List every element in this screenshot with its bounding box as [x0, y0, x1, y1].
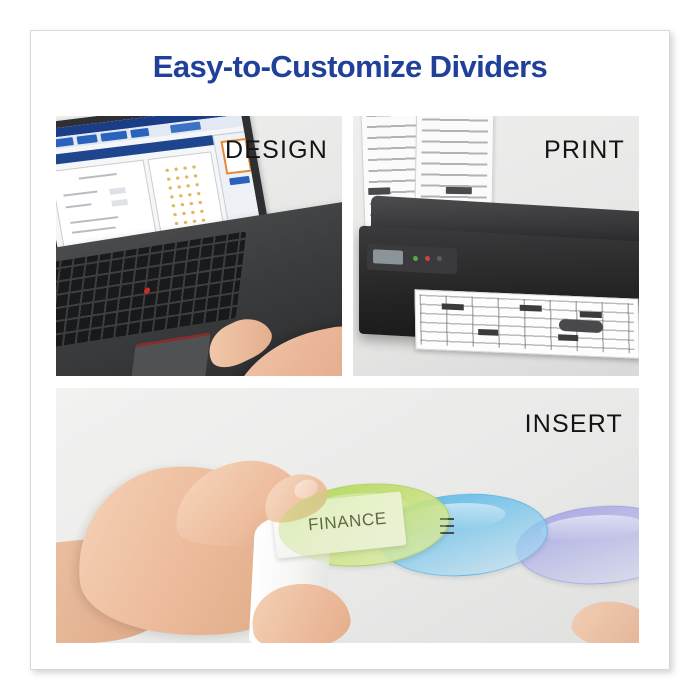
panel-label-design: DESIGN: [225, 136, 328, 165]
printer-menu-button[interactable]: [437, 256, 442, 261]
divider-dot-pattern: [162, 162, 211, 232]
laptop-touchpad[interactable]: [130, 332, 211, 376]
panel-label-insert: INSERT: [525, 410, 623, 439]
product-feature-image: Easy-to-Customize Dividers: [0, 0, 700, 700]
printed-label-sheet: [414, 289, 639, 358]
printer-tray-handle[interactable]: [559, 319, 603, 333]
panel-print: PRINT: [353, 116, 639, 376]
rail-chip: [229, 176, 250, 185]
panel-design: DESIGN: [56, 116, 342, 376]
card-frame: Easy-to-Customize Dividers: [30, 30, 670, 670]
panel-insert: FINANCE INSERT: [56, 388, 639, 643]
page-title: Easy-to-Customize Dividers: [31, 49, 669, 85]
printer-cancel-button[interactable]: [425, 256, 430, 261]
printer-power-button[interactable]: [413, 256, 418, 261]
printer-lcd-display: [373, 249, 403, 265]
panel-label-print: PRINT: [544, 136, 625, 165]
